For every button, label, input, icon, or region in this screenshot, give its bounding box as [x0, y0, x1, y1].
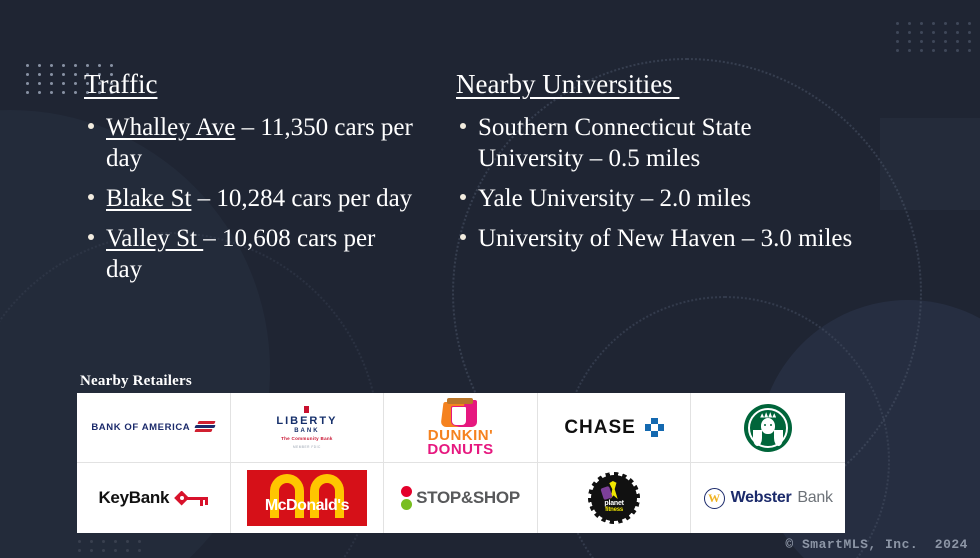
bank-of-america-flag-icon [195, 421, 215, 434]
starbucks-siren-icon [744, 404, 792, 452]
webster-w-icon: W [704, 488, 725, 509]
retailer-cell-keybank: KeyBank [77, 463, 231, 533]
mcdonalds-logo: McDonald's [247, 470, 367, 526]
bank-of-america-wordmark: BANK OF AMERICA [91, 422, 190, 433]
coffee-cup-icon [439, 398, 481, 428]
chase-logo: CHASE [564, 417, 664, 439]
liberty-bank-mark-icon [304, 406, 309, 413]
webster-wordmark: Webster [731, 489, 792, 507]
bank-of-america-logo: BANK OF AMERICA [91, 421, 215, 434]
slide-content: Traffic Whalley Ave – 11,350 cars per da… [0, 0, 980, 558]
webster-bank-logo: W Webster Bank [704, 488, 833, 509]
retailer-cell-planet-fitness: planet fitness [538, 463, 692, 533]
list-item: University of New Haven – 3.0 miles [456, 223, 856, 254]
list-item: Whalley Ave – 11,350 cars per day [84, 112, 414, 174]
nearby-retailers-label: Nearby Retailers [80, 373, 192, 390]
key-icon [174, 491, 208, 506]
stop-and-shop-wordmark: STOP&SHOP [416, 488, 520, 508]
keybank-logo: KeyBank [98, 488, 208, 508]
keybank-wordmark: KeyBank [98, 488, 169, 508]
traffic-column: Traffic Whalley Ave – 11,350 cars per da… [84, 70, 414, 294]
liberty-bank-wordmark: LIBERTY [276, 415, 337, 427]
traffic-list: Whalley Ave – 11,350 cars per day Blake … [84, 112, 414, 285]
street-name: Valley St [106, 225, 203, 252]
retailer-cell-stop-and-shop: STOP&SHOP [384, 463, 538, 533]
slide: Traffic Whalley Ave – 11,350 cars per da… [0, 0, 980, 558]
retailer-cell-chase: CHASE [538, 393, 692, 463]
street-name: Blake St [106, 185, 191, 212]
liberty-bank-fineprint: MEMBER FDIC [293, 445, 321, 449]
retailer-cell-mcdonalds: McDonald's [231, 463, 385, 533]
chase-wordmark: CHASE [564, 417, 636, 439]
retailer-cell-bank-of-america: BANK OF AMERICA [77, 393, 231, 463]
starbucks-eyes [763, 424, 773, 427]
chase-octagon-icon [645, 418, 664, 437]
retailer-logo-grid: BANK OF AMERICA LIBERTY BANK The Communi… [77, 393, 845, 533]
mcdonalds-wordmark: McDonald's [265, 497, 349, 515]
street-detail: – 10,284 cars per day [191, 185, 412, 212]
list-item: Yale University – 2.0 miles [456, 183, 856, 214]
liberty-bank-subword: BANK [294, 428, 319, 434]
traffic-heading: Traffic [84, 70, 414, 100]
copyright-footer: © SmartMLS, Inc. 2024 [785, 537, 968, 552]
retailer-cell-starbucks [691, 393, 845, 463]
dunkin-donuts-logo: DUNKIN' DONUTS [427, 398, 493, 458]
universities-heading: Nearby Universities [456, 70, 856, 100]
planet-fitness-logo: planet fitness [591, 475, 637, 521]
universities-column: Nearby Universities Southern Connecticut… [456, 70, 856, 263]
retailer-cell-dunkin-donuts: DUNKIN' DONUTS [384, 393, 538, 463]
retailer-cell-webster-bank: W Webster Bank [691, 463, 845, 533]
starbucks-tail-left [753, 430, 762, 446]
street-name: Whalley Ave [106, 114, 235, 141]
starbucks-tail-right [774, 430, 783, 446]
bank-wordmark: Bank [797, 489, 832, 507]
stop-and-shop-dots-icon [401, 486, 412, 510]
list-item: Blake St – 10,284 cars per day [84, 183, 414, 214]
fitness-wordmark: fitness [605, 507, 623, 513]
stop-and-shop-logo: STOP&SHOP [401, 486, 520, 510]
universities-list: Southern Connecticut State University – … [456, 112, 856, 254]
liberty-bank-logo: LIBERTY BANK The Community Bank MEMBER F… [276, 406, 337, 449]
donuts-wordmark: DONUTS [427, 443, 493, 457]
list-item: Southern Connecticut State University – … [456, 112, 856, 174]
list-item: Valley St – 10,608 cars per day [84, 223, 414, 285]
retailer-cell-liberty-bank: LIBERTY BANK The Community Bank MEMBER F… [231, 393, 385, 463]
planet-wordmark: planet [604, 500, 623, 507]
liberty-bank-tagline: The Community Bank [281, 436, 333, 441]
